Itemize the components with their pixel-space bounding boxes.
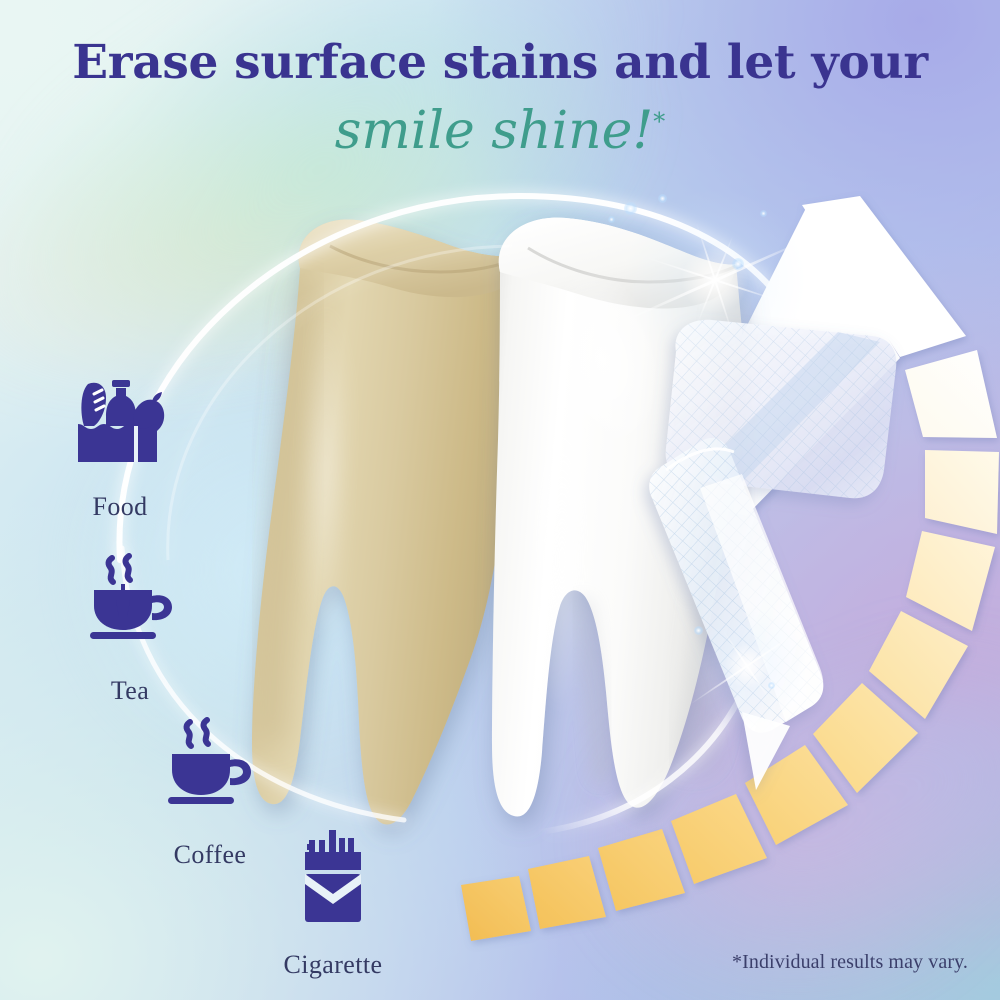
stain-cause-food: Food <box>35 368 205 522</box>
stain-cause-cigarette: Cigarette <box>248 826 418 980</box>
grocery-bag-icon <box>35 368 205 478</box>
headline-primary: Erase surface stains and let your <box>0 38 1000 88</box>
coffee-cup-icon <box>125 716 295 826</box>
asterisk-marker: * <box>653 108 665 136</box>
poster-canvas: Erase surface stains and let your smile … <box>0 0 1000 1000</box>
stain-cause-label: Cigarette <box>248 950 418 980</box>
headline-script-text: smile shine! <box>335 101 654 161</box>
stain-cause-label: Tea <box>45 676 215 706</box>
stain-cause-label: Food <box>35 492 205 522</box>
headline-script: smile shine!* <box>0 104 1000 159</box>
disclaimer-footnote: *Individual results may vary. <box>732 951 968 974</box>
strip-tip <box>742 712 790 790</box>
teacup-icon <box>45 552 215 662</box>
cigarette-pack-icon <box>248 826 418 936</box>
stain-cause-tea: Tea <box>45 552 215 706</box>
